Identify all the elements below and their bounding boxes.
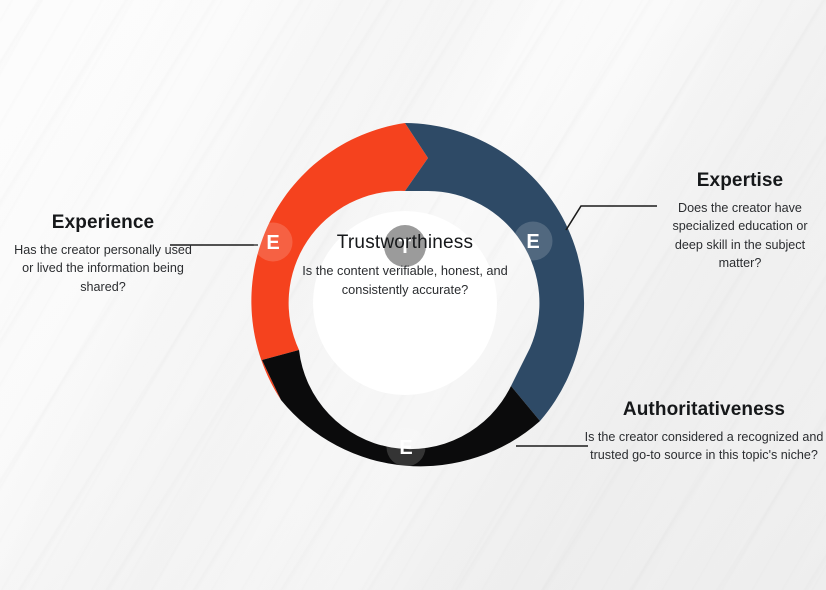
badge-experience-letter: E [266,232,279,254]
label-authoritativeness-description: Is the creator considered a recognized a… [582,428,826,465]
label-authoritativeness-title: Authoritativeness [582,399,826,421]
badge-authoritativeness-letter: E [399,437,412,459]
badge-authoritativeness[interactable]: E [387,428,426,467]
label-experience-description: Has the creator personally used or lived… [8,241,198,296]
badge-expertise-letter: E [526,231,539,253]
label-expertise[interactable]: Expertise Does the creator have speciali… [660,170,820,272]
label-experience-title: Experience [8,212,198,234]
center-description: Is the content verifiable, honest, and c… [300,261,510,299]
connector-line-expertise [566,206,657,230]
center-title: Trustworthiness [300,232,510,254]
label-experience[interactable]: Experience Has the creator personally us… [8,212,198,296]
center-content: Trustworthiness Is the content verifiabl… [300,222,510,299]
diagram-canvas: E E E T Trustworthiness Is the content v… [0,0,826,590]
badge-expertise[interactable]: E [514,222,553,261]
badge-experience[interactable]: E [254,223,293,262]
label-authoritativeness[interactable]: Authoritativeness Is the creator conside… [582,399,826,465]
label-expertise-description: Does the creator have specialized educat… [660,199,820,273]
label-expertise-title: Expertise [660,170,820,192]
